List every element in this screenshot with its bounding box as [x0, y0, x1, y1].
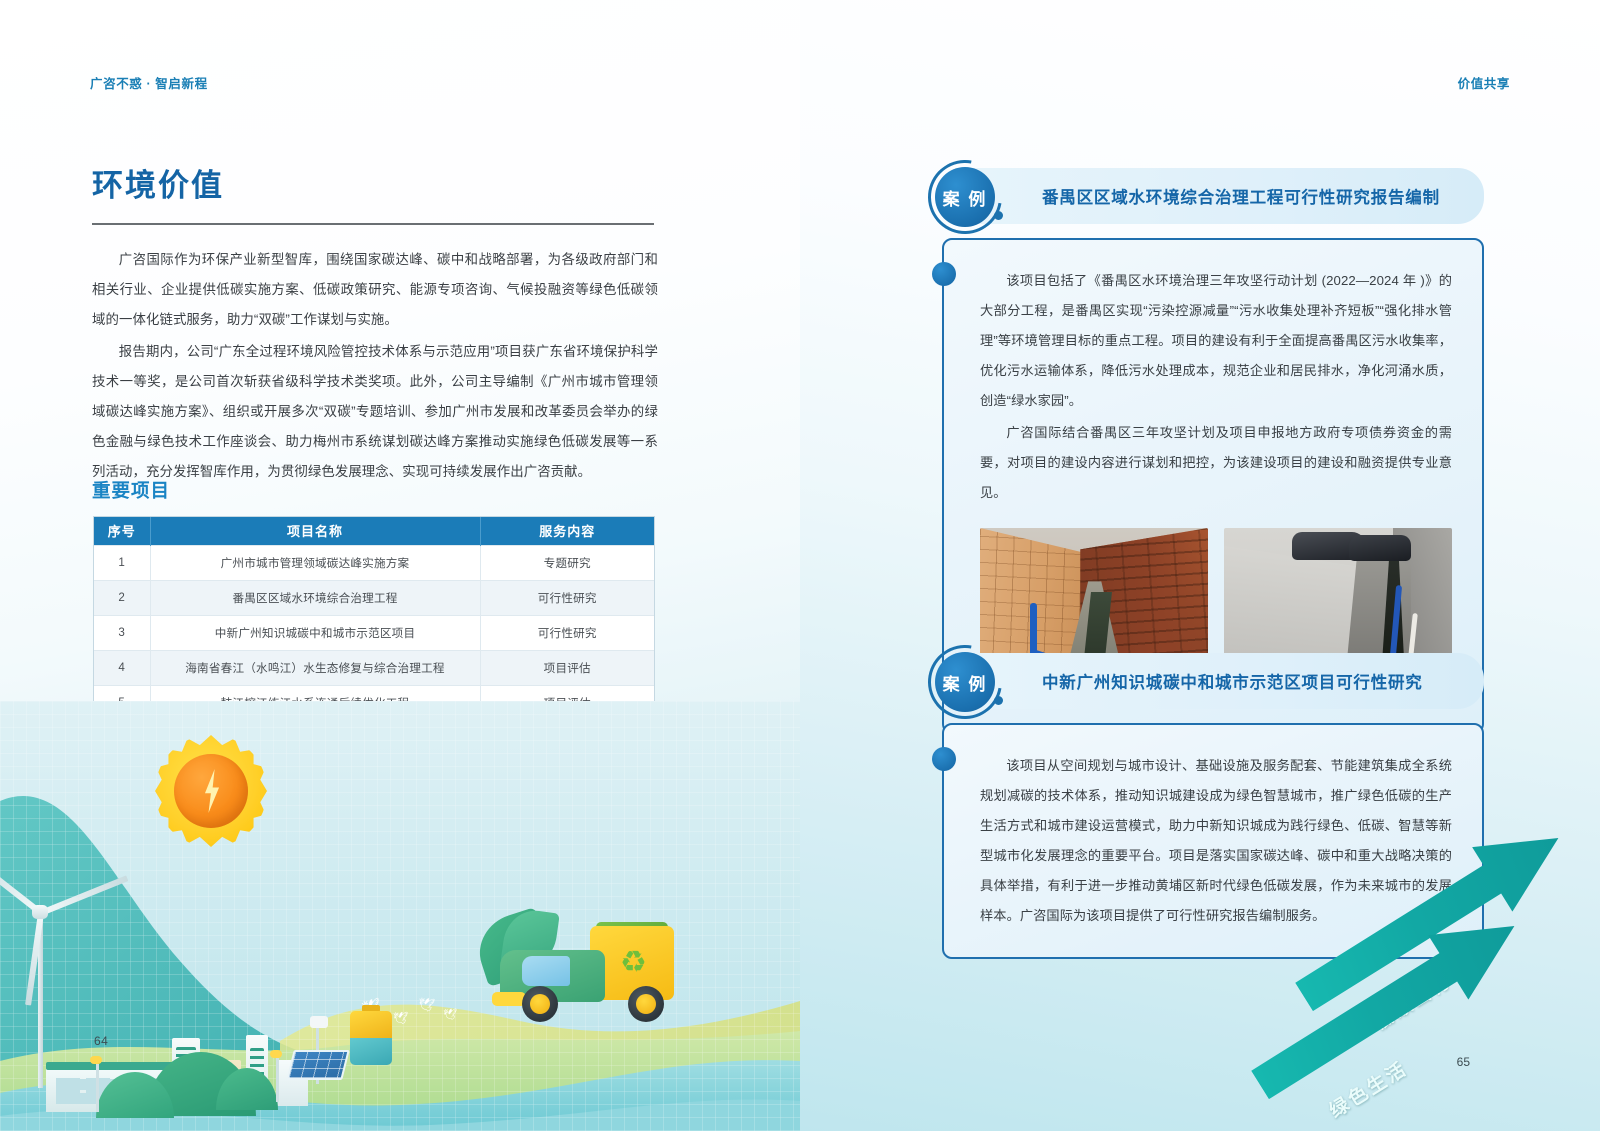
- case-2-title: 中新广州知识城碳中和城市示范区项目可行性研究: [1042, 669, 1423, 693]
- case-2-header: 案 例 中新广州知识城碳中和城市示范区项目可行性研究: [970, 653, 1484, 709]
- bird-icon: [443, 1010, 457, 1021]
- table-row: 4 海南省春江（水鸣江）水生态修复与综合治理工程 项目评估: [94, 650, 654, 685]
- cell-project: 番禺区区域水环境综合治理工程: [150, 580, 480, 615]
- case-badge-label: 案 例: [935, 167, 995, 227]
- green-arrows-decoration: 低碳出行 绿色生活: [1280, 791, 1600, 1121]
- cell-service: 专题研究: [480, 545, 654, 580]
- page-title: 环境价值: [92, 160, 224, 205]
- cell-project: 中新广州知识城碳中和城市示范区项目: [150, 615, 480, 650]
- case-1-header: 案 例 番禺区区域水环境综合治理工程可行性研究报告编制: [970, 168, 1484, 224]
- title-divider: [92, 223, 654, 225]
- cell-service: 可行性研究: [480, 580, 654, 615]
- sun-energy-icon: [155, 735, 267, 847]
- cell-project: 海南省春江（水鸣江）水生态修复与综合治理工程: [150, 650, 480, 685]
- intro-body: 广咨国际作为环保产业新型智库，围绕国家碳达峰、碳中和战略部署，为各级政府部门和相…: [92, 245, 658, 487]
- solar-panel-icon: [286, 1050, 349, 1080]
- bird-icon: [417, 997, 435, 1012]
- running-head-left: 广咨不惑 · 智启新程: [90, 73, 208, 92]
- key-projects-table: 序号 项目名称 服务内容 1 广州市城市管理领域碳达峰实施方案 专题研究 2 番…: [93, 516, 655, 721]
- arrow-label-2: 绿色生活: [1324, 1054, 1413, 1124]
- lamp-head-icon: [90, 1056, 102, 1064]
- cell-no: 3: [94, 615, 150, 650]
- page-number-right: 65: [1457, 1055, 1470, 1069]
- case-paragraph: 广咨国际结合番禺区三年攻坚计划及项目申报地方政府专项债券资金的需要，对项目的建设…: [980, 418, 1452, 508]
- running-head-right: 价值共享: [1458, 73, 1510, 92]
- left-page: 广咨不惑 · 智启新程 环境价值 广咨国际作为环保产业新型智库，围绕国家碳达峰、…: [0, 0, 800, 1131]
- cell-service: 可行性研究: [480, 615, 654, 650]
- column-header-project: 项目名称: [150, 517, 480, 545]
- table-row: 1 广州市城市管理领域碳达峰实施方案 专题研究: [94, 545, 654, 580]
- page-number-left: 64: [94, 1034, 108, 1048]
- table-row: 3 中新广州知识城碳中和城市示范区项目 可行性研究: [94, 615, 654, 650]
- lamp-head-icon: [270, 1050, 282, 1058]
- case-badge-icon: 案 例: [928, 645, 1002, 719]
- case-badge-label: 案 例: [935, 652, 995, 712]
- cell-no: 4: [94, 650, 150, 685]
- report-spread: 广咨不惑 · 智启新程 环境价值 广咨国际作为环保产业新型智库，围绕国家碳达峰、…: [0, 0, 1600, 1131]
- cell-no: 1: [94, 545, 150, 580]
- table-header-row: 序号 项目名称 服务内容: [94, 517, 654, 545]
- cell-service: 项目评估: [480, 650, 654, 685]
- table-row: 2 番禺区区域水环境综合治理工程 可行性研究: [94, 580, 654, 615]
- paragraph: 报告期内，公司“广东全过程环境风险管控技术体系与示范应用”项目获广东省环境保护科…: [92, 337, 658, 487]
- column-header-no: 序号: [94, 517, 150, 545]
- recycle-icon: ♻: [620, 948, 647, 978]
- bird-icon: [393, 1012, 408, 1024]
- green-recycling-truck-icon: ♻: [470, 908, 695, 1038]
- case-1-title: 番禺区区域水环境综合治理工程可行性研究报告编制: [1042, 184, 1440, 208]
- right-page: 价值共享 案 例 番禺区区域水环境综合治理工程可行性研究报告编制 该项目包括了《…: [800, 0, 1600, 1131]
- paragraph: 广咨国际作为环保产业新型智库，围绕国家碳达峰、碳中和战略部署，为各级政府部门和相…: [92, 245, 658, 335]
- street-lamp: [96, 1064, 99, 1112]
- subsection-title: 重要项目: [92, 477, 170, 503]
- cell-no: 2: [94, 580, 150, 615]
- case-paragraph: 该项目包括了《番禺区水环境治理三年攻坚行动计划 (2022—2024 年 )》的…: [980, 266, 1452, 416]
- cell-project: 广州市城市管理领域碳达峰实施方案: [150, 545, 480, 580]
- charger-head-icon: [310, 1016, 328, 1028]
- battery-icon: [350, 1005, 392, 1063]
- case-badge-icon: 案 例: [928, 160, 1002, 234]
- column-header-service: 服务内容: [480, 517, 654, 545]
- street-lamp: [276, 1058, 279, 1102]
